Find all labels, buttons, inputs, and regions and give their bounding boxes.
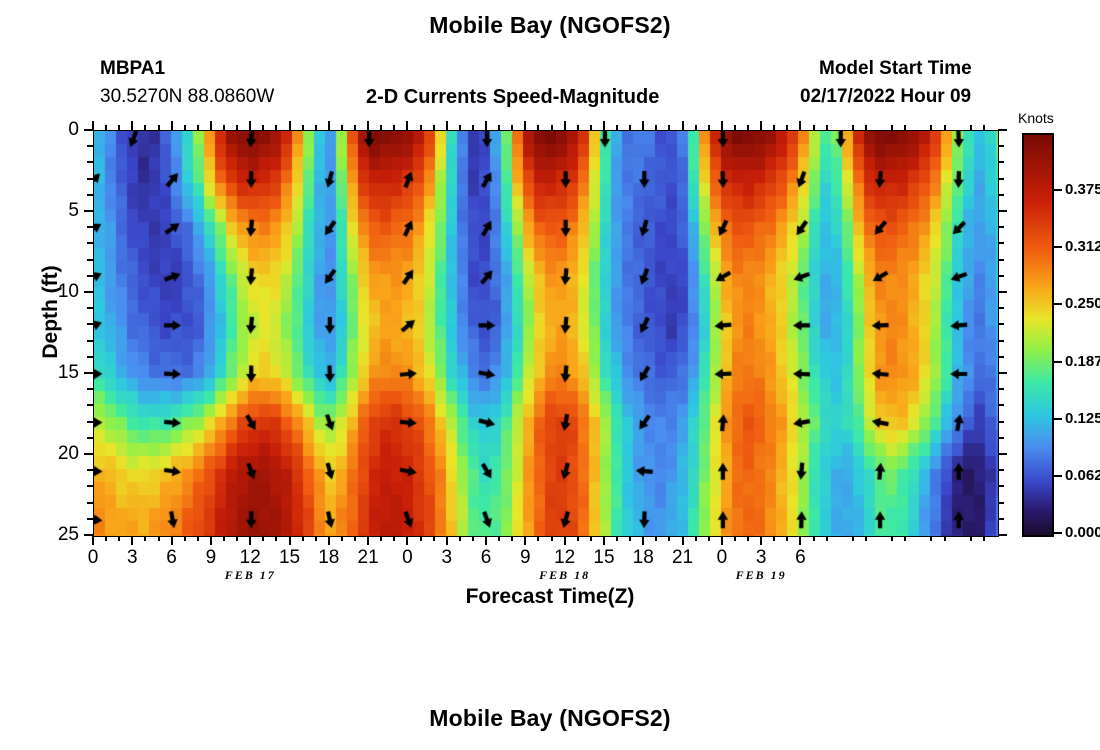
x-axis-tick-mark bbox=[642, 536, 644, 545]
x-axis-minor-tick bbox=[590, 536, 592, 541]
x-axis-minor-tick bbox=[433, 536, 435, 541]
x-axis-minor-tick bbox=[944, 125, 946, 130]
x-axis-minor-tick bbox=[302, 536, 304, 541]
x-axis-tick-mark bbox=[760, 536, 762, 545]
y-axis-minor-tick bbox=[998, 242, 1004, 244]
x-axis-minor-tick bbox=[354, 536, 356, 541]
x-axis-minor-tick bbox=[970, 125, 972, 130]
x-axis-tick-mark bbox=[682, 536, 684, 545]
y-axis-minor-tick bbox=[87, 469, 93, 471]
y-axis-minor-tick bbox=[87, 161, 93, 163]
colorbar-tick-mark bbox=[1052, 532, 1062, 534]
x-axis-minor-tick bbox=[813, 536, 815, 541]
x-axis-tick-mark bbox=[799, 536, 801, 545]
x-axis-minor-tick bbox=[865, 125, 867, 130]
colorbar bbox=[1022, 133, 1054, 537]
y-axis-tick-mark bbox=[998, 534, 1007, 536]
y-axis-tick-mark bbox=[998, 291, 1007, 293]
x-axis-tick-mark bbox=[92, 121, 94, 130]
x-axis-minor-tick bbox=[891, 125, 893, 130]
x-axis-minor-tick bbox=[380, 125, 382, 130]
x-axis-minor-tick bbox=[459, 125, 461, 130]
x-axis-tick-mark bbox=[642, 121, 644, 130]
x-axis-tick-mark bbox=[603, 536, 605, 545]
x-axis-minor-tick bbox=[826, 536, 828, 541]
x-axis-tick-mark bbox=[131, 121, 133, 130]
y-axis-minor-tick bbox=[998, 145, 1004, 147]
colorbar-tick-label: 0.3750 bbox=[1065, 181, 1100, 198]
x-axis-minor-tick bbox=[668, 125, 670, 130]
x-axis-minor-tick bbox=[472, 125, 474, 130]
x-axis-minor-tick bbox=[275, 125, 277, 130]
y-axis-tick-mark bbox=[84, 210, 93, 212]
y-axis-minor-tick bbox=[998, 340, 1004, 342]
x-axis-minor-tick bbox=[275, 536, 277, 541]
x-axis-tick-mark bbox=[328, 536, 330, 545]
x-axis-minor-tick bbox=[197, 125, 199, 130]
x-axis-minor-tick bbox=[747, 125, 749, 130]
x-axis-tick-mark bbox=[289, 121, 291, 130]
y-axis-minor-tick bbox=[998, 178, 1004, 180]
y-axis-minor-tick bbox=[998, 404, 1004, 406]
x-axis-minor-tick bbox=[970, 536, 972, 541]
colorbar-tick-mark bbox=[1052, 475, 1062, 477]
x-axis-tick-mark bbox=[682, 121, 684, 130]
x-axis-minor-tick bbox=[813, 125, 815, 130]
x-axis-tick-mark bbox=[92, 536, 94, 545]
y-axis-minor-tick bbox=[87, 194, 93, 196]
x-axis-minor-tick bbox=[184, 125, 186, 130]
x-axis-minor-tick bbox=[629, 125, 631, 130]
x-axis-minor-tick bbox=[695, 536, 697, 541]
y-axis-minor-tick bbox=[998, 518, 1004, 520]
page-title: Mobile Bay (NGOFS2) bbox=[0, 12, 1100, 39]
y-axis-tick-label: 0 bbox=[45, 119, 79, 141]
x-axis-minor-tick bbox=[629, 536, 631, 541]
x-axis-minor-tick bbox=[551, 125, 553, 130]
x-axis-minor-tick bbox=[302, 125, 304, 130]
x-axis-tick-mark bbox=[721, 121, 723, 130]
x-axis-minor-tick bbox=[511, 125, 513, 130]
x-axis-tick-mark bbox=[721, 536, 723, 545]
x-axis-tick-mark bbox=[328, 121, 330, 130]
x-axis-minor-tick bbox=[420, 125, 422, 130]
x-axis-minor-tick bbox=[380, 536, 382, 541]
y-axis-minor-tick bbox=[87, 340, 93, 342]
x-axis-minor-tick bbox=[511, 536, 513, 541]
x-axis-minor-tick bbox=[393, 125, 395, 130]
x-axis-minor-tick bbox=[944, 536, 946, 541]
x-axis-minor-tick bbox=[865, 536, 867, 541]
x-axis-tick-mark bbox=[446, 121, 448, 130]
x-axis-date-label: FEB 19 bbox=[701, 568, 821, 583]
y-axis-minor-tick bbox=[998, 226, 1004, 228]
colorbar-tick-mark bbox=[1052, 246, 1062, 248]
x-axis-minor-tick bbox=[184, 536, 186, 541]
y-axis-tick-mark bbox=[84, 291, 93, 293]
y-axis-minor-tick bbox=[998, 437, 1004, 439]
y-axis-minor-tick bbox=[998, 469, 1004, 471]
x-axis-tick-mark bbox=[564, 536, 566, 545]
x-axis-minor-tick bbox=[472, 536, 474, 541]
y-axis-tick-label: 10 bbox=[45, 281, 79, 303]
x-axis-tick-label: 6 bbox=[770, 547, 830, 569]
x-axis-date-label: FEB 17 bbox=[190, 568, 310, 583]
colorbar-tick-mark bbox=[1052, 303, 1062, 305]
y-axis-minor-tick bbox=[87, 388, 93, 390]
x-axis-tick-mark bbox=[799, 121, 801, 130]
x-axis-minor-tick bbox=[930, 536, 932, 541]
y-axis-tick-mark bbox=[998, 129, 1007, 131]
x-axis-tick-mark bbox=[249, 121, 251, 130]
y-axis-tick-label: 20 bbox=[45, 443, 79, 465]
x-axis-tick-mark bbox=[760, 121, 762, 130]
x-axis-tick-mark bbox=[406, 121, 408, 130]
x-axis-minor-tick bbox=[852, 536, 854, 541]
x-axis-tick-mark bbox=[249, 536, 251, 545]
colorbar-ticks: 0.37500.31250.25000.18750.12500.06250.00… bbox=[1052, 133, 1100, 533]
y-axis-minor-tick bbox=[998, 307, 1004, 309]
x-axis-tick-mark bbox=[406, 536, 408, 545]
x-axis-minor-tick bbox=[852, 125, 854, 130]
x-axis-minor-tick bbox=[773, 536, 775, 541]
colorbar-tick-mark bbox=[1052, 418, 1062, 420]
x-axis-minor-tick bbox=[393, 536, 395, 541]
y-axis-tick-label: 5 bbox=[45, 200, 79, 222]
x-axis-title: Forecast Time(Z) bbox=[0, 585, 1100, 609]
y-axis-minor-tick bbox=[87, 404, 93, 406]
x-axis-minor-tick bbox=[668, 536, 670, 541]
x-axis-minor-tick bbox=[433, 125, 435, 130]
colorbar-title: Knots bbox=[1018, 110, 1054, 126]
x-axis-tick-mark bbox=[485, 536, 487, 545]
x-axis-minor-tick bbox=[734, 536, 736, 541]
x-axis-tick-mark bbox=[603, 121, 605, 130]
y-axis-minor-tick bbox=[87, 242, 93, 244]
x-axis-minor-tick bbox=[826, 125, 828, 130]
x-axis-minor-tick bbox=[786, 125, 788, 130]
colorbar-tick-mark bbox=[1052, 189, 1062, 191]
y-axis-tick-label: 15 bbox=[45, 362, 79, 384]
x-axis-tick-mark bbox=[524, 121, 526, 130]
y-axis-minor-tick bbox=[998, 502, 1004, 504]
x-axis-minor-tick bbox=[773, 125, 775, 130]
x-axis-minor-tick bbox=[197, 536, 199, 541]
x-axis-minor-tick bbox=[105, 125, 107, 130]
x-axis-tick-mark bbox=[289, 536, 291, 545]
current-speed-heatmap bbox=[94, 131, 998, 536]
y-axis-ticks-right bbox=[998, 130, 1012, 535]
x-axis-tick-mark bbox=[367, 536, 369, 545]
y-axis-minor-tick bbox=[87, 485, 93, 487]
x-axis-tick-mark bbox=[171, 536, 173, 545]
x-axis-ticks-top bbox=[93, 121, 997, 131]
y-axis-tick-mark bbox=[84, 372, 93, 374]
colorbar-tick-label: 0.3125 bbox=[1065, 238, 1100, 255]
model-start-time-label: Model Start Time bbox=[819, 58, 972, 80]
y-axis-minor-tick bbox=[998, 421, 1004, 423]
x-axis-date-label: FEB 18 bbox=[505, 568, 625, 583]
x-axis-minor-tick bbox=[577, 125, 579, 130]
y-axis-tick-mark bbox=[998, 453, 1007, 455]
station-coordinates: 30.5270N 88.0860W bbox=[100, 86, 274, 108]
x-axis-tick-mark bbox=[210, 536, 212, 545]
colorbar-tick-mark bbox=[1052, 361, 1062, 363]
x-axis-minor-tick bbox=[786, 536, 788, 541]
y-axis-minor-tick bbox=[998, 194, 1004, 196]
x-axis-minor-tick bbox=[983, 125, 985, 130]
x-axis-minor-tick bbox=[655, 536, 657, 541]
x-axis-minor-tick bbox=[354, 125, 356, 130]
station-id-label: MBPA1 bbox=[100, 58, 165, 80]
y-axis-minor-tick bbox=[87, 178, 93, 180]
x-axis-minor-tick bbox=[341, 125, 343, 130]
y-axis-minor-tick bbox=[998, 259, 1004, 261]
y-axis-minor-tick bbox=[87, 502, 93, 504]
x-axis-minor-tick bbox=[144, 536, 146, 541]
model-start-time-value: 02/17/2022 Hour 09 bbox=[800, 86, 971, 108]
y-axis-minor-tick bbox=[87, 323, 93, 325]
x-axis-minor-tick bbox=[315, 125, 317, 130]
x-axis-minor-tick bbox=[537, 536, 539, 541]
x-axis-tick-mark bbox=[564, 121, 566, 130]
x-axis-minor-tick bbox=[616, 536, 618, 541]
x-axis-tick-mark bbox=[131, 536, 133, 545]
y-axis-minor-tick bbox=[998, 356, 1004, 358]
x-axis-minor-tick bbox=[223, 125, 225, 130]
y-axis-ticks: 0510152025 bbox=[48, 130, 93, 535]
x-axis-minor-tick bbox=[983, 536, 985, 541]
colorbar-tick-label: 0.2500 bbox=[1065, 295, 1100, 312]
x-axis-minor-tick bbox=[341, 536, 343, 541]
colorbar-tick-label: 0.0000 bbox=[1065, 524, 1100, 541]
x-axis-minor-tick bbox=[459, 536, 461, 541]
y-axis-minor-tick bbox=[998, 323, 1004, 325]
y-axis-minor-tick bbox=[87, 145, 93, 147]
y-axis-minor-tick bbox=[87, 356, 93, 358]
x-axis-minor-tick bbox=[904, 536, 906, 541]
x-axis-minor-tick bbox=[537, 125, 539, 130]
colorbar-tick-label: 0.1875 bbox=[1065, 353, 1100, 370]
x-axis-minor-tick bbox=[708, 125, 710, 130]
heatmap-plot-area bbox=[93, 130, 999, 537]
y-axis-minor-tick bbox=[998, 275, 1004, 277]
colorbar-tick-label: 0.1250 bbox=[1065, 410, 1100, 427]
x-axis-minor-tick bbox=[734, 125, 736, 130]
x-axis-minor-tick bbox=[236, 536, 238, 541]
x-axis-tick-mark bbox=[485, 121, 487, 130]
x-axis-minor-tick bbox=[262, 125, 264, 130]
x-axis-tick-mark bbox=[524, 536, 526, 545]
x-axis-minor-tick bbox=[262, 536, 264, 541]
x-axis-minor-tick bbox=[590, 125, 592, 130]
y-axis-minor-tick bbox=[998, 485, 1004, 487]
x-axis-minor-tick bbox=[616, 125, 618, 130]
y-axis-minor-tick bbox=[87, 437, 93, 439]
x-axis-minor-tick bbox=[236, 125, 238, 130]
y-axis-tick-label: 25 bbox=[45, 524, 79, 546]
x-axis-minor-tick bbox=[695, 125, 697, 130]
y-axis-tick-mark bbox=[998, 372, 1007, 374]
bottom-title: Mobile Bay (NGOFS2) bbox=[0, 705, 1100, 732]
x-axis-minor-tick bbox=[118, 125, 120, 130]
x-axis-minor-tick bbox=[904, 125, 906, 130]
x-axis-tick-mark bbox=[210, 121, 212, 130]
y-axis-minor-tick bbox=[87, 518, 93, 520]
y-axis-minor-tick bbox=[87, 307, 93, 309]
x-axis-minor-tick bbox=[315, 536, 317, 541]
x-axis-minor-tick bbox=[498, 125, 500, 130]
colorbar-gradient bbox=[1024, 135, 1052, 535]
colorbar-tick-label: 0.0625 bbox=[1065, 467, 1100, 484]
x-axis-minor-tick bbox=[891, 536, 893, 541]
x-axis-minor-tick bbox=[747, 536, 749, 541]
x-axis-tick-mark bbox=[446, 536, 448, 545]
x-axis-ticks: 036912151821036912151821036FEB 17FEB 18F… bbox=[93, 536, 997, 586]
y-axis-minor-tick bbox=[87, 421, 93, 423]
y-axis-tick-mark bbox=[998, 210, 1007, 212]
y-axis-minor-tick bbox=[87, 275, 93, 277]
x-axis-minor-tick bbox=[930, 125, 932, 130]
chart-subtitle: 2-D Currents Speed-Magnitude bbox=[366, 86, 659, 109]
x-axis-minor-tick bbox=[118, 536, 120, 541]
x-axis-minor-tick bbox=[708, 536, 710, 541]
x-axis-minor-tick bbox=[158, 125, 160, 130]
x-axis-minor-tick bbox=[105, 536, 107, 541]
y-axis-tick-mark bbox=[84, 453, 93, 455]
x-axis-minor-tick bbox=[144, 125, 146, 130]
x-axis-minor-tick bbox=[551, 536, 553, 541]
x-axis-tick-mark bbox=[171, 121, 173, 130]
x-axis-minor-tick bbox=[158, 536, 160, 541]
x-axis-minor-tick bbox=[577, 536, 579, 541]
y-axis-minor-tick bbox=[998, 161, 1004, 163]
x-axis-minor-tick bbox=[420, 536, 422, 541]
y-axis-minor-tick bbox=[87, 259, 93, 261]
x-axis-minor-tick bbox=[498, 536, 500, 541]
y-axis-minor-tick bbox=[998, 388, 1004, 390]
y-axis-minor-tick bbox=[87, 226, 93, 228]
x-axis-minor-tick bbox=[223, 536, 225, 541]
x-axis-tick-mark bbox=[367, 121, 369, 130]
x-axis-minor-tick bbox=[655, 125, 657, 130]
